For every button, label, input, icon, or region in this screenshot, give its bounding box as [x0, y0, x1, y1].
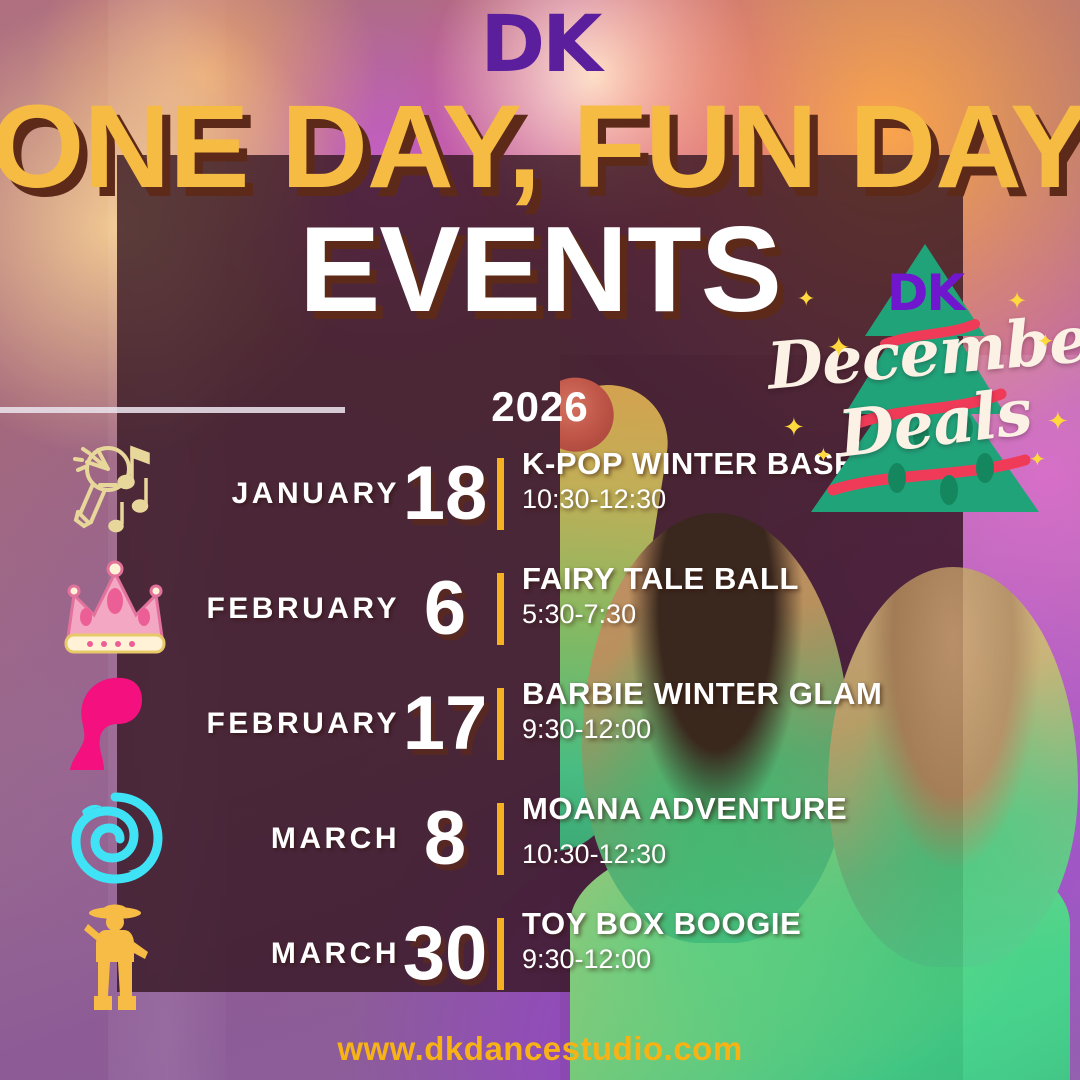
sparkle-icon: ✦ — [827, 334, 850, 362]
event-row: MARCH30TOY BOX BOOGIE9:30-12:00 — [60, 896, 900, 1011]
event-time: 9:30-12:00 — [522, 944, 912, 975]
event-month: JANUARY — [172, 436, 400, 551]
sparkle-icon: ✦ — [815, 446, 832, 466]
event-row: FEBRUARY6FAIRY TALE BALL5:30-7:30 — [60, 551, 900, 666]
promotional-flyer: DK ONE DAY, FUN DAY EVENTS 2026 JANUARY1… — [0, 0, 1080, 1080]
tiara-crown-icon — [60, 551, 170, 666]
december-deals-badge[interactable]: DK December Deals ✦ ✦ ✦ ✦ ✦ ✦ ✦ ✦ — [775, 228, 1075, 543]
event-day: 8 — [408, 781, 482, 896]
microphone-music-notes-icon — [60, 436, 170, 551]
event-name: FAIRY TALE BALL — [522, 563, 912, 595]
sparkle-icon: ✦ — [797, 288, 815, 310]
event-divider — [497, 458, 504, 530]
event-day: 17 — [408, 666, 482, 781]
event-row: JANUARY18K-POP WINTER BASH10:30-12:30 — [60, 436, 900, 551]
event-time: 10:30-12:30 — [522, 839, 666, 870]
event-day: 30 — [408, 896, 482, 1011]
event-divider — [497, 688, 504, 760]
sparkle-icon: ✦ — [1029, 450, 1046, 470]
event-text: MOANA ADVENTURE10:30-12:30 — [522, 793, 912, 825]
sparkle-icon: ✦ — [1037, 332, 1054, 352]
event-month: FEBRUARY — [172, 551, 400, 666]
event-month: FEBRUARY — [172, 666, 400, 781]
sparkle-icon: ✦ — [1047, 408, 1069, 434]
cowgirl-silhouette-icon — [60, 896, 170, 1011]
event-time: 5:30-7:30 — [522, 599, 912, 630]
event-list: JANUARY18K-POP WINTER BASH10:30-12:30FEB… — [60, 436, 900, 1011]
event-text: FAIRY TALE BALL5:30-7:30 — [522, 563, 912, 630]
sparkle-icon: ✦ — [783, 414, 805, 440]
event-name: MOANA ADVENTURE — [522, 793, 912, 825]
event-text: TOY BOX BOOGIE9:30-12:00 — [522, 908, 912, 975]
sparkle-icon: ✦ — [1007, 290, 1027, 314]
event-text: BARBIE WINTER GLAM9:30-12:00 — [522, 678, 912, 745]
dk-logo: DK — [0, 6, 1080, 84]
event-time: 9:30-12:00 — [522, 714, 912, 745]
event-divider — [497, 918, 504, 990]
headline-line-1: ONE DAY, FUN DAY — [0, 93, 1080, 202]
event-name: TOY BOX BOOGIE — [522, 908, 912, 940]
moana-wave-spiral-icon — [60, 781, 170, 896]
divider-rule — [0, 407, 345, 413]
event-day: 18 — [408, 436, 482, 551]
event-divider — [497, 803, 504, 875]
website-url[interactable]: www.dkdancestudio.com — [0, 1030, 1080, 1068]
event-divider — [497, 573, 504, 645]
event-row: MARCH8MOANA ADVENTURE10:30-12:30 — [60, 781, 900, 896]
event-day: 6 — [408, 551, 482, 666]
event-row: FEBRUARY17BARBIE WINTER GLAM9:30-12:00 — [60, 666, 900, 781]
event-month: MARCH — [172, 896, 400, 1011]
event-name: BARBIE WINTER GLAM — [522, 678, 912, 710]
barbie-silhouette-icon — [60, 666, 170, 781]
event-month: MARCH — [172, 781, 400, 896]
